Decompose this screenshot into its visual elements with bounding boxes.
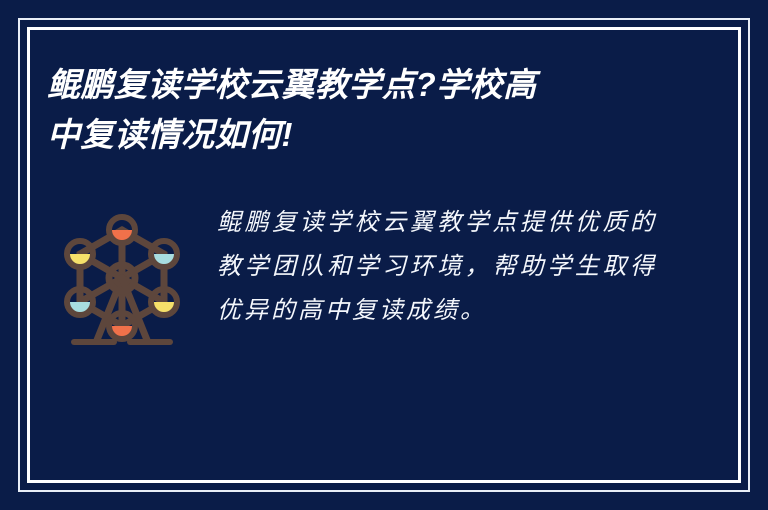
cabin-upper-left bbox=[67, 241, 93, 267]
title-line-1: 鲲鹏复读学校云翼教学点?学校高 bbox=[47, 60, 687, 110]
body-paragraph: 鲲鹏复读学校云翼教学点提供优质的教学团队和学习环境，帮助学生取得优异的高中复读成… bbox=[217, 200, 657, 332]
illustration-container bbox=[47, 200, 197, 348]
cabin-upper-right bbox=[151, 241, 177, 267]
content-row: 鲲鹏复读学校云翼教学点提供优质的教学团队和学习环境，帮助学生取得优异的高中复读成… bbox=[47, 200, 708, 348]
cabin-top bbox=[109, 217, 135, 243]
poster-canvas: 鲲鹏复读学校云翼教学点?学校高 中复读情况如何! bbox=[0, 0, 768, 510]
ferris-wheel-icon bbox=[57, 208, 187, 348]
page-title: 鲲鹏复读学校云翼教学点?学校高 中复读情况如何! bbox=[47, 60, 687, 160]
title-line-2: 中复读情况如何! bbox=[47, 110, 687, 160]
